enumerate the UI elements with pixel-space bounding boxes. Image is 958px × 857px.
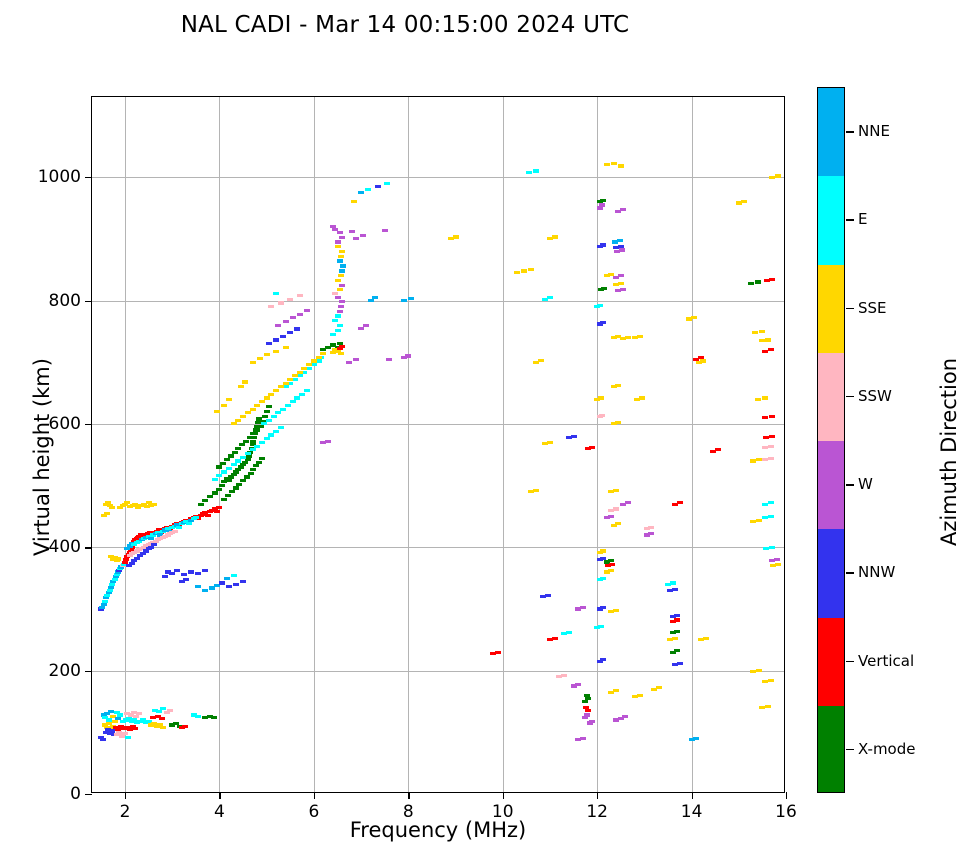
gridline-vertical [314,97,315,792]
data-point [195,585,201,588]
data-point [768,457,774,460]
gridline-vertical [125,97,126,792]
data-point [339,284,345,287]
data-point [299,393,305,396]
data-point [648,526,654,529]
data-point [608,559,614,562]
y-tick-mark [85,301,92,302]
data-point [597,206,603,209]
data-point [338,255,344,258]
data-point [214,410,220,413]
data-point [337,231,343,234]
data-point [600,549,606,552]
data-point [620,208,626,211]
data-point [648,532,654,535]
data-point [756,669,762,672]
data-point [600,243,606,246]
data-point [691,316,697,319]
data-point [332,228,338,231]
data-point [599,203,605,206]
data-point [136,712,142,715]
gridline-horizontal [92,301,784,302]
data-point [600,606,606,609]
colorbar-segment-w[interactable] [818,441,844,530]
data-point [775,174,781,177]
data-point [601,287,607,290]
gridline-horizontal [92,424,784,425]
data-point [283,382,289,385]
data-point [240,479,246,482]
colorbar-tick [846,131,854,132]
data-point [301,367,307,370]
data-point [271,415,277,418]
data-point [214,510,220,513]
data-point [243,440,249,443]
data-point [762,350,768,353]
data-point [619,248,625,251]
data-point [358,327,364,330]
data-point [600,199,606,202]
data-point [700,359,706,362]
data-point [339,236,345,239]
data-point [132,727,138,730]
data-point [259,400,265,403]
data-point [235,419,241,422]
data-point [608,569,614,572]
data-point [283,346,289,349]
colorbar-segment-nne[interactable] [818,88,844,177]
data-point [762,458,768,461]
data-point [335,279,341,282]
data-point [304,389,310,392]
data-point [618,282,624,285]
data-point [335,245,341,248]
data-point [195,715,201,718]
gridline-vertical [503,97,504,792]
colorbar-label-nnw: NNW [858,563,895,581]
x-tick-mark [125,792,126,799]
data-point [108,586,114,589]
x-tick-mark [219,792,220,799]
data-point [224,458,230,461]
data-point [202,589,208,592]
data-point [762,516,768,519]
data-point [226,585,232,588]
data-point [762,446,768,449]
data-point [615,421,621,424]
data-point [545,594,551,597]
data-point [109,506,115,509]
gridline-horizontal [92,671,784,672]
data-point [287,298,293,301]
data-point [275,411,281,414]
data-point [339,300,345,303]
data-point [584,694,590,697]
data-point [101,603,107,606]
data-point [268,305,274,308]
data-point [264,396,270,399]
data-point [280,408,286,411]
gridline-vertical [692,97,693,792]
data-point [582,700,588,703]
data-point [287,331,293,334]
data-point [453,235,459,238]
data-point [297,313,303,316]
data-point [285,404,291,407]
data-point [372,296,378,299]
x-tick-mark [786,792,787,799]
data-point [769,546,775,549]
data-point [275,324,281,327]
data-point [250,361,256,364]
data-point [363,324,369,327]
data-point [765,338,771,341]
data-point [186,522,192,525]
data-point [618,164,624,167]
data-point [561,674,567,677]
data-point [615,522,621,525]
x-tick-mark [408,792,409,799]
data-point [212,478,218,481]
colorbar-segment-x-mode[interactable] [818,706,844,793]
data-point [405,354,411,357]
data-point [188,570,194,573]
data-point [254,445,260,448]
data-point [589,446,595,449]
colorbar-label-ssw: SSW [858,387,892,405]
data-point [294,396,300,399]
data-point [268,433,274,436]
data-point [195,572,201,575]
data-point [338,305,344,308]
data-point [273,389,279,392]
data-point [216,506,222,509]
colorbar-segment-vertical[interactable] [818,618,844,707]
data-point [748,282,754,285]
data-point [174,569,180,572]
data-point [202,499,208,502]
data-point [239,443,245,446]
data-point [226,398,232,401]
data-point [283,320,289,323]
data-point [598,625,604,628]
data-point [600,658,606,661]
data-point [278,426,284,429]
data-point [182,725,188,728]
data-point [769,278,775,281]
data-point [566,631,572,634]
data-point [297,294,303,297]
data-point [585,697,591,700]
data-point [292,374,298,377]
data-point [181,573,187,576]
data-point [338,274,344,277]
data-point [278,301,284,304]
data-point [571,435,577,438]
colorbar-tick [846,749,854,750]
data-point [250,408,256,411]
data-point [514,271,520,274]
data-point [245,411,251,414]
colorbar-tick [846,572,854,573]
data-point [755,280,761,283]
data-point [306,363,312,366]
data-point [330,351,336,354]
data-point [248,472,254,475]
data-point [205,514,211,517]
data-point [670,581,676,584]
data-point [600,557,606,560]
data-point [287,378,293,381]
data-point [608,515,614,518]
data-point [226,467,232,470]
data-point [538,359,544,362]
data-point [335,314,341,317]
colorbar-label-sse: SSE [858,299,887,317]
data-point [351,200,357,203]
data-point [620,288,626,291]
data-point [250,440,256,443]
data-point [580,737,586,740]
data-point [211,716,217,719]
colorbar-label-nne: NNE [858,122,890,140]
data-point [256,461,262,464]
data-point [674,614,680,617]
data-point [268,393,274,396]
data-point [335,329,341,332]
data-point [242,380,248,383]
data-point [244,475,250,478]
data-point [325,440,331,443]
data-point [598,396,604,399]
data-point [613,507,619,510]
data-point [625,336,631,339]
data-point [316,356,322,359]
data-point [264,410,270,413]
data-point [401,299,407,302]
data-point [768,445,774,448]
gridline-horizontal [92,547,784,548]
data-point [232,451,238,454]
data-point [330,333,336,336]
data-point [340,264,346,267]
plot-area: 02004006008001000 246810121416 [91,96,785,793]
data-point [332,292,338,295]
data-point [123,558,129,561]
data-point [304,309,310,312]
data-point [273,350,279,353]
colorbar-segment-ssw[interactable] [818,353,844,442]
data-point [117,713,123,716]
data-point [160,726,166,729]
y-tick-label: 0 [70,784,81,804]
data-point [339,269,345,272]
data-point [768,679,774,682]
data-point [311,359,317,362]
data-point [107,589,113,592]
data-point [575,683,581,686]
y-tick-mark [85,424,92,425]
data-point [297,371,303,374]
data-point [240,580,246,583]
data-point [382,229,388,232]
data-point [604,163,610,166]
data-point [238,385,244,388]
data-point [600,321,606,324]
data-point [759,330,765,333]
data-point [253,464,259,467]
data-point [273,338,279,341]
data-point [250,448,256,451]
data-point [290,316,296,319]
data-point [585,709,591,712]
data-point [257,357,263,360]
data-point [528,268,534,271]
data-point [259,457,265,460]
data-point [216,474,222,477]
data-point [741,200,747,203]
data-point [613,609,619,612]
data-point [162,575,168,578]
colorbar-segment-e[interactable] [818,176,844,265]
data-point [216,465,222,468]
data-point [216,488,222,491]
data-point [526,171,532,174]
data-point [233,486,239,489]
data-point [247,436,253,439]
data-point [226,479,232,482]
data-point [266,405,272,408]
data-point [160,707,166,710]
data-point [225,494,231,497]
data-point [167,709,173,712]
data-point [762,396,768,399]
data-point [212,491,218,494]
data-point [235,447,241,450]
data-point [231,574,237,577]
x-axis-title: Frequency (MHz) [91,818,785,842]
data-point [337,324,343,327]
colorbar-label-x-mode: X-mode [858,740,915,758]
colorbar[interactable] [817,87,845,793]
y-tick-mark [85,547,92,548]
data-point [349,230,355,233]
colorbar-segment-nnw[interactable] [818,529,844,618]
data-point [368,299,374,302]
ionogram-figure: NAL CADI - Mar 14 00:15:00 2024 UTC 0200… [0,0,958,857]
data-point [495,651,501,654]
data-point [613,489,619,492]
data-point [768,515,774,518]
data-point [672,588,678,591]
data-point [151,503,157,506]
data-point [219,484,225,487]
data-point [339,250,345,253]
data-point [677,662,683,665]
y-tick-mark [85,794,92,795]
data-point [250,468,256,471]
data-point [365,188,371,191]
colorbar-tick [846,308,854,309]
data-point [769,415,775,418]
data-point [580,606,586,609]
data-point [228,454,234,457]
data-point [220,462,226,465]
data-point [521,269,527,272]
data-point [698,356,704,359]
data-point [617,239,623,242]
data-point [613,689,619,692]
data-point [159,717,165,720]
data-point [245,452,251,455]
page-title: NAL CADI - Mar 14 00:15:00 2024 UTC [0,12,810,38]
data-point [104,594,110,597]
data-point [254,428,260,431]
data-point [769,435,775,438]
data-point [693,737,699,740]
data-point [582,716,588,719]
data-point [109,729,115,732]
data-point [622,715,628,718]
data-point [198,503,204,506]
data-point [330,225,336,228]
data-point [533,489,539,492]
data-point [337,288,343,291]
data-point [266,342,272,345]
data-point [775,563,781,566]
data-point [755,398,761,401]
colorbar-tick [846,219,854,220]
colorbar-label-e: E [858,210,867,228]
data-point [656,686,662,689]
gridline-vertical [408,97,409,792]
data-point [615,384,621,387]
data-point [637,694,643,697]
data-point [756,458,762,461]
colorbar-segment-sse[interactable] [818,265,844,354]
data-point [172,530,178,533]
data-point [219,581,225,584]
data-point [674,618,680,621]
data-point [677,501,683,504]
data-point [618,274,624,277]
data-point [254,404,260,407]
data-point [337,310,343,313]
data-point [320,352,326,355]
colorbar-title: Azimuth Direction [937,282,958,622]
data-point [101,514,107,517]
data-point [547,441,553,444]
x-tick-mark [314,792,315,799]
data-point [236,483,242,486]
data-point [589,720,595,723]
data-point [221,404,227,407]
colorbar-tick [846,484,854,485]
data-point [332,319,338,322]
data-point [756,519,762,522]
data-point [125,736,131,739]
data-point [597,304,603,307]
data-point [358,191,364,194]
x-tick-mark [692,792,693,799]
data-point [231,463,237,466]
data-point [240,456,246,459]
data-point [337,259,343,262]
data-point [552,235,558,238]
data-point [639,396,645,399]
data-point [290,400,296,403]
colorbar-label-vertical: Vertical [858,652,914,670]
